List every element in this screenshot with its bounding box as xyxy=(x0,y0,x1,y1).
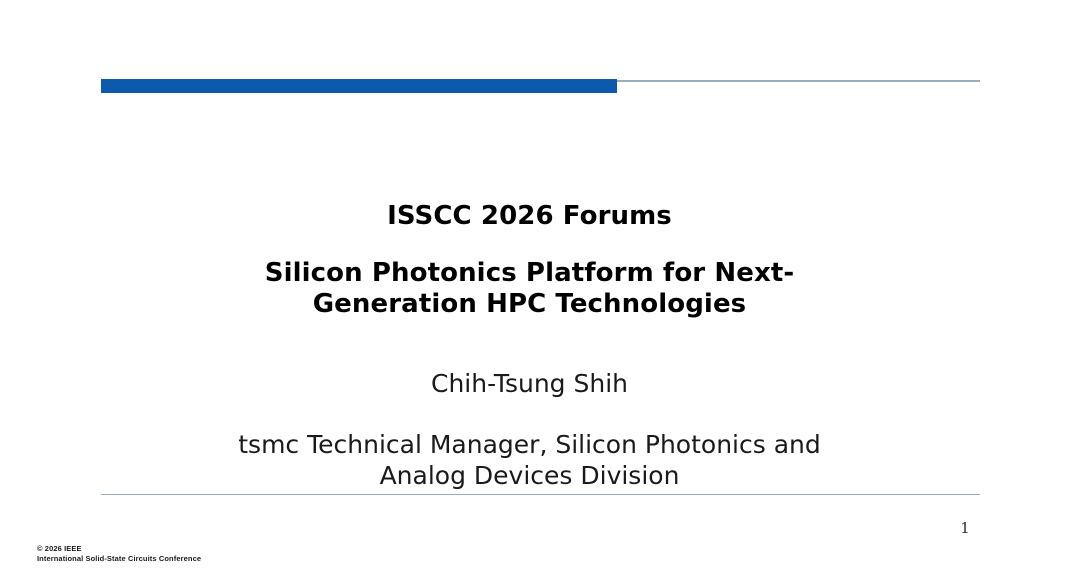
presenter-affiliation-line1: tsmc Technical Manager, Silicon Photonic… xyxy=(101,429,958,460)
page-number: 1 xyxy=(930,519,1000,537)
slide-title-main: ISSCC 2026 Forums xyxy=(101,196,958,236)
footer-conference-name: International Solid-State Circuits Confe… xyxy=(37,554,201,564)
presenter-affiliation-line2: Analog Devices Division xyxy=(101,460,958,491)
title-block: ISSCC 2026 Forums Silicon Photonics Plat… xyxy=(101,196,958,320)
footer-copyright: © 2026 IEEE xyxy=(37,544,201,554)
footer-rule xyxy=(101,494,980,495)
slide-title-sub-line1: Silicon Photonics Platform for Next- xyxy=(101,258,958,289)
slide-title-sub-line2: Generation HPC Technologies xyxy=(101,289,958,320)
footer-legal: © 2026 IEEE International Solid-State Ci… xyxy=(37,544,201,564)
presenter-block: Chih-Tsung Shih tsmc Technical Manager, … xyxy=(101,368,958,491)
presentation-slide: ISSCC 2026 Forums Silicon Photonics Plat… xyxy=(0,0,1080,568)
title-spacer xyxy=(101,236,958,258)
header-rule xyxy=(101,79,980,93)
presenter-name: Chih-Tsung Shih xyxy=(101,368,958,400)
presenter-spacer xyxy=(101,400,958,429)
header-accent-bar xyxy=(101,79,617,93)
